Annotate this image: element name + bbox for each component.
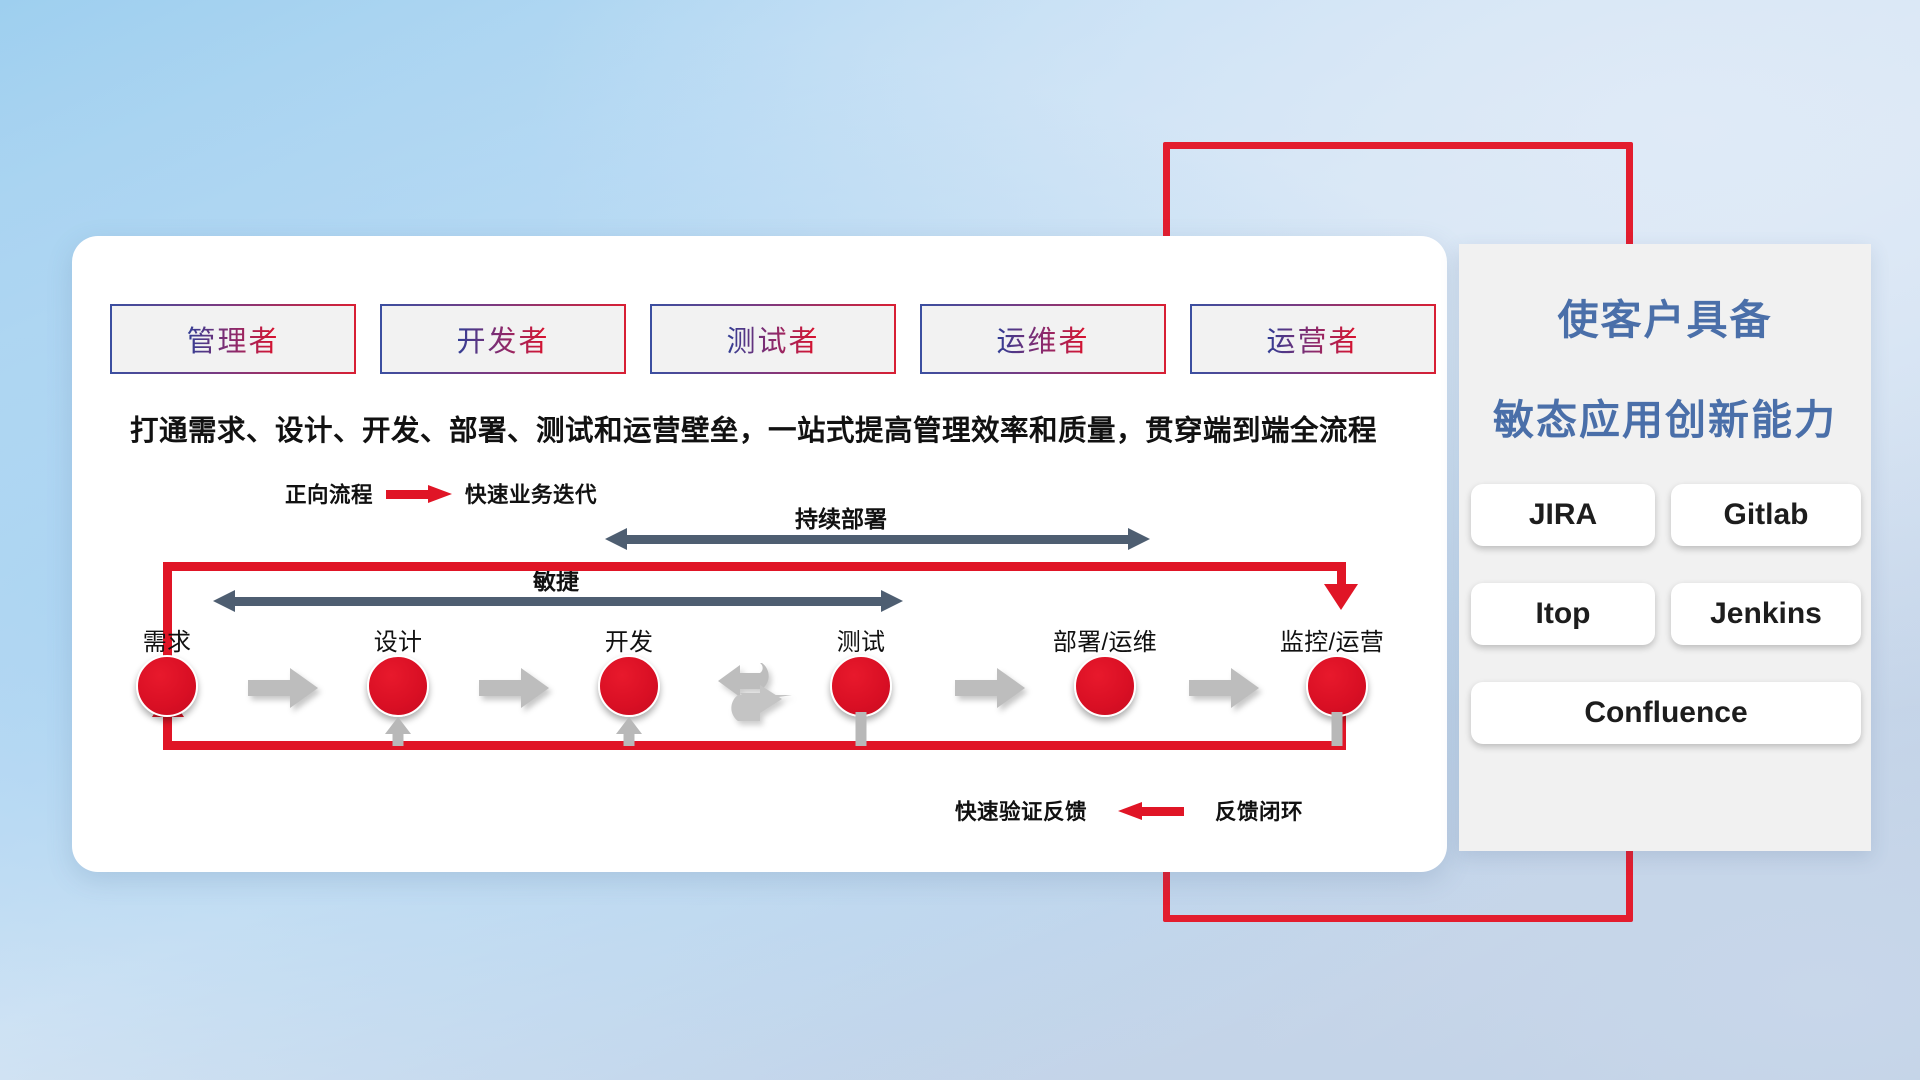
flow-arrow-icon xyxy=(955,667,1025,709)
stage-node-develop[interactable] xyxy=(598,655,660,717)
arrow-shaft xyxy=(626,535,1129,544)
diagram-canvas: 管理者 开发者 测试者 运维者 运营者 打通需求、设计、开发、部署、测试和运营壁… xyxy=(0,0,1920,1080)
agile-arrow xyxy=(213,590,903,612)
panel-title-line1: 使客户具备 xyxy=(1459,286,1871,346)
arrow-right-icon xyxy=(386,486,452,501)
role-chip-label: 运维者 xyxy=(996,318,1089,360)
fast-iteration-label: 快速业务迭代 xyxy=(465,478,597,509)
role-chip-label: 运营者 xyxy=(1266,318,1359,360)
red-loop-bottom-line xyxy=(163,741,1346,750)
feedback-up-arrow-develop xyxy=(615,717,643,745)
tool-chip-confluence[interactable]: Confluence xyxy=(1471,682,1861,744)
stage-label-test: 测试 xyxy=(837,622,886,657)
red-loop-top-line xyxy=(163,562,1346,571)
stage-label-develop: 开发 xyxy=(605,622,654,657)
arrow-head-left-icon xyxy=(213,590,235,612)
arrow-shaft xyxy=(856,712,867,746)
arrow-shaft xyxy=(393,732,404,746)
stage-label-monitor-operate: 监控/运营 xyxy=(1280,622,1384,657)
flow-arrow-icon xyxy=(248,667,318,709)
stage-node-monitor-operate[interactable] xyxy=(1306,655,1368,717)
fast-validation-feedback-label: 快速验证反馈 xyxy=(955,795,1087,826)
feedback-annotation: 快速验证反馈 反馈闭环 xyxy=(955,795,1303,826)
stage-label-requirement: 需求 xyxy=(143,622,192,657)
arrow-shaft xyxy=(234,597,882,606)
feedback-stem-monitor xyxy=(1323,712,1351,746)
stage-node-design[interactable] xyxy=(367,655,429,717)
panel-title-line2: 敏态应用创新能力 xyxy=(1459,386,1871,446)
tool-chip-gitlab[interactable]: Gitlab xyxy=(1671,484,1861,546)
feedback-stem-test xyxy=(847,712,875,746)
stage-node-deploy-ops[interactable] xyxy=(1074,655,1136,717)
stage-label-deploy-ops: 部署/运维 xyxy=(1053,622,1157,657)
role-chip-operations[interactable]: 运营者 xyxy=(1190,304,1436,374)
red-loop-right-line xyxy=(1337,562,1346,586)
role-chip-label: 测试者 xyxy=(726,318,819,360)
tool-chip-itop[interactable]: Itop xyxy=(1471,583,1655,645)
flow-arrow-icon xyxy=(1189,667,1259,709)
role-chip-label: 开发者 xyxy=(456,318,549,360)
stage-node-requirement[interactable] xyxy=(136,655,198,717)
forward-process-annotation: 正向流程 快速业务迭代 xyxy=(285,478,597,509)
arrow-head-right-icon xyxy=(881,590,903,612)
red-loop-up-stem xyxy=(163,714,172,744)
tool-chip-jenkins[interactable]: Jenkins xyxy=(1671,583,1861,645)
role-chip-developer[interactable]: 开发者 xyxy=(380,304,626,374)
red-loop-arrowhead-down-icon xyxy=(1324,584,1358,610)
role-chip-row: 管理者 开发者 测试者 运维者 运营者 xyxy=(110,304,1436,374)
forward-process-label: 正向流程 xyxy=(285,478,373,509)
continuous-deployment-arrow xyxy=(605,528,1150,550)
feedback-loop-label: 反馈闭环 xyxy=(1215,795,1303,826)
iteration-loop-icon xyxy=(704,655,796,731)
headline-text: 打通需求、设计、开发、部署、测试和运营壁垒，一站式提高管理效率和质量，贯穿端到端… xyxy=(130,408,1377,449)
role-chip-manager[interactable]: 管理者 xyxy=(110,304,356,374)
role-chip-label: 管理者 xyxy=(186,318,279,360)
role-chip-tester[interactable]: 测试者 xyxy=(650,304,896,374)
arrow-head-right-icon xyxy=(1128,528,1150,550)
right-side-panel: 使客户具备 敏态应用创新能力 JIRA Gitlab Itop Jenkins … xyxy=(1459,244,1871,851)
flow-arrow-icon xyxy=(479,667,549,709)
stage-label-design: 设计 xyxy=(374,622,423,657)
arrow-left-icon xyxy=(1118,803,1184,818)
arrow-shaft xyxy=(624,732,635,746)
stage-node-test[interactable] xyxy=(830,655,892,717)
arrow-head-left-icon xyxy=(605,528,627,550)
arrow-shaft xyxy=(1332,712,1343,746)
feedback-up-arrow-design xyxy=(384,717,412,745)
tool-chip-jira[interactable]: JIRA xyxy=(1471,484,1655,546)
role-chip-ops[interactable]: 运维者 xyxy=(920,304,1166,374)
